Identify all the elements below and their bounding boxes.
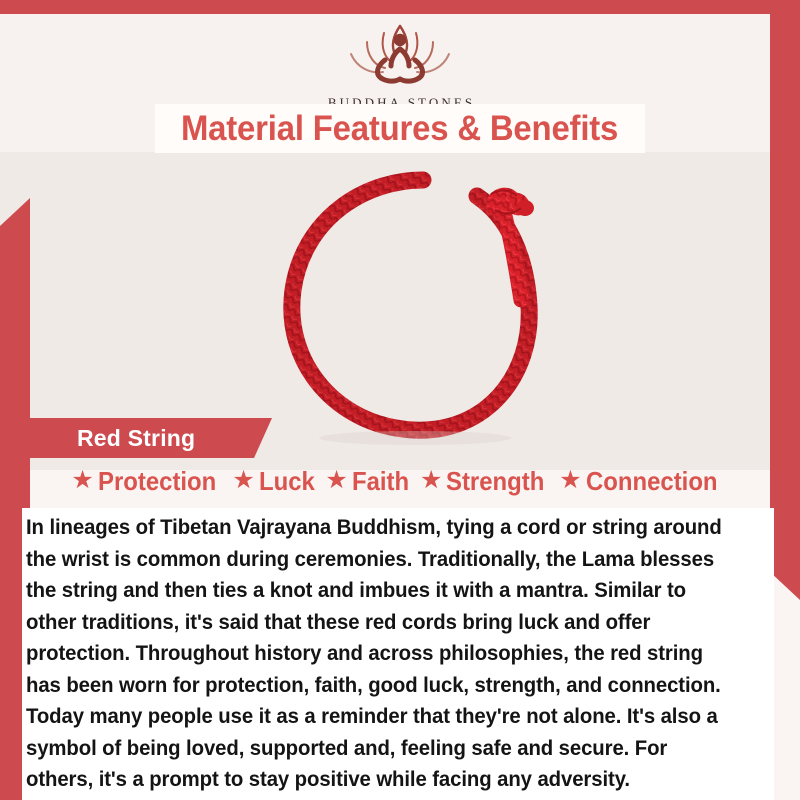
feature-label: Connection: [586, 466, 718, 497]
feature-item-faith: ★ Faith: [325, 466, 414, 497]
lotus-meditation-icon: [0, 16, 800, 92]
feature-label: Luck: [259, 466, 315, 497]
star-icon: ★: [325, 468, 347, 493]
star-icon: ★: [232, 468, 254, 493]
feature-item-connection: ★ Connection: [559, 466, 728, 497]
decorative-frame-top: [0, 0, 800, 14]
feature-label: Protection: [98, 466, 216, 497]
star-icon: ★: [71, 468, 93, 493]
description-block: In lineages of Tibetan Vajrayana Buddhis…: [22, 508, 774, 800]
ribbon-label-text: Red String: [77, 425, 195, 452]
star-icon: ★: [559, 468, 581, 493]
star-icon: ★: [420, 468, 442, 493]
page-title-banner: Material Features & Benefits: [155, 104, 645, 153]
feature-label: Strength: [446, 466, 544, 497]
product-image-red-string-bracelet: [255, 158, 585, 458]
brand-logo: BUDDHA STONES: [0, 16, 800, 111]
page-title: Material Features & Benefits: [181, 109, 618, 149]
feature-list: ★ Protection ★ Luck ★ Faith ★ Strength ★…: [0, 466, 800, 497]
feature-item-strength: ★ Strength: [420, 466, 553, 497]
product-ribbon-label: Red String: [22, 418, 272, 458]
infographic-page: BUDDHA STONES Material Features & Benefi…: [0, 0, 800, 800]
feature-label: Faith: [352, 466, 409, 497]
feature-item-luck: ★ Luck: [232, 466, 319, 497]
description-paragraph: In lineages of Tibetan Vajrayana Buddhis…: [26, 512, 737, 796]
feature-item-protection: ★ Protection: [71, 466, 226, 497]
